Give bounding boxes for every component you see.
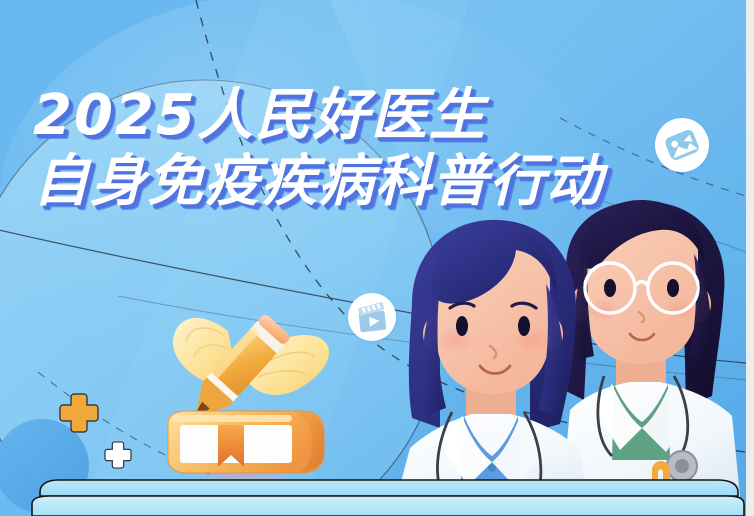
plus-icon-orange <box>56 390 102 436</box>
eye-right <box>518 316 530 336</box>
image-icon <box>655 118 709 172</box>
video-clapperboard-icon <box>348 293 396 341</box>
page-gutter <box>746 0 754 516</box>
desk-top-edge <box>40 480 738 496</box>
eye-left <box>456 316 468 336</box>
image-badge[interactable] <box>655 118 709 172</box>
eye-left <box>604 279 616 297</box>
desk-body <box>32 496 744 516</box>
winged-pencil-and-book-illustration <box>150 295 340 490</box>
plus-icon-white <box>103 440 133 470</box>
doctor-female-right <box>560 200 742 516</box>
eye-right <box>667 279 679 297</box>
counter-desk <box>30 478 746 516</box>
video-badge[interactable] <box>348 293 396 341</box>
doctor-female-left <box>398 220 590 516</box>
doctors-illustration <box>398 200 746 516</box>
open-book <box>168 411 324 473</box>
poster-banner: 2025人民好医生 自身免疫疾病科普行动 <box>0 0 746 516</box>
